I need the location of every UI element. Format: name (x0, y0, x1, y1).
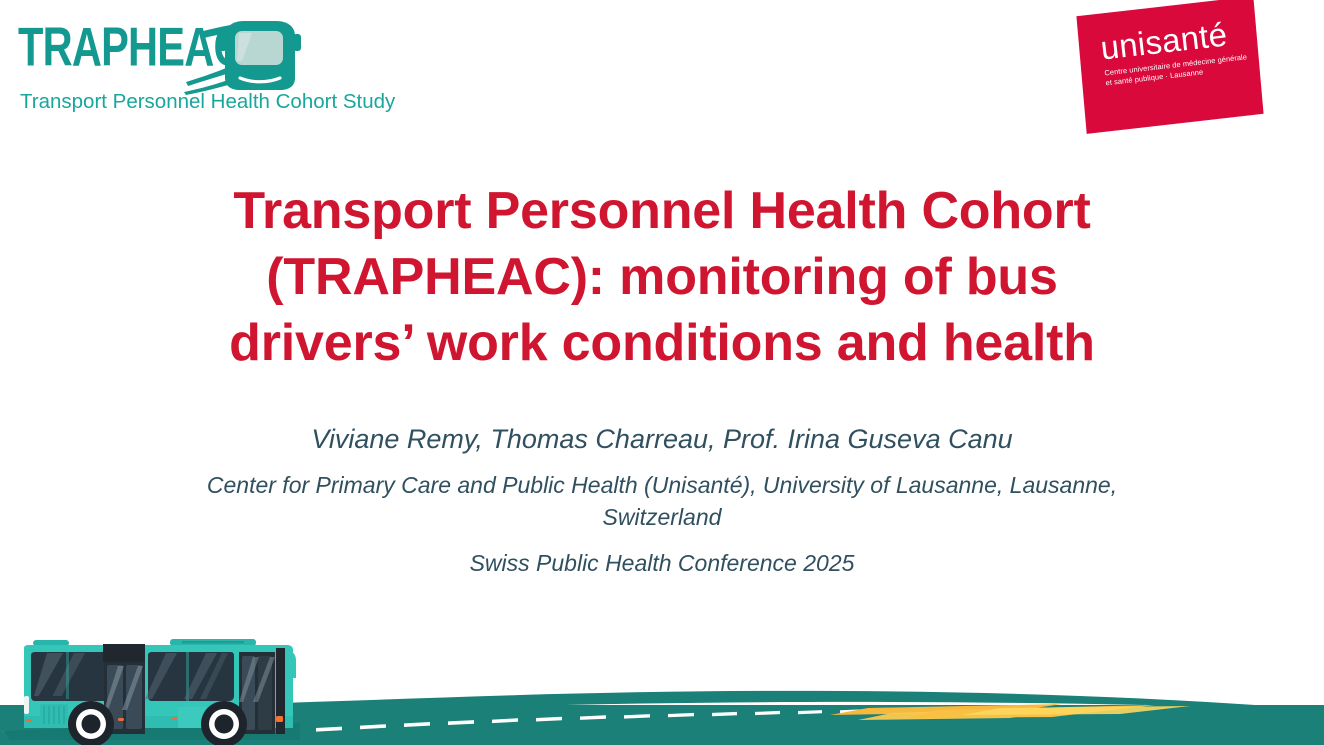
author-affiliation: Center for Primary Care and Public Healt… (132, 469, 1192, 533)
title-line-3: drivers’ work conditions and health (162, 310, 1162, 376)
unisante-text-group: unisanté Centre universitaire de médecin… (1075, 0, 1265, 134)
title-line-2: (TRAPHEAC): monitoring of bus (162, 244, 1162, 310)
slide-title: Transport Personnel Health Cohort (TRAPH… (162, 178, 1162, 376)
bus-front-wheel (68, 701, 114, 745)
trapheac-tagline: Transport Personnel Health Cohort Study (20, 90, 395, 114)
authors-block: Viviane Remy, Thomas Charreau, Prof. Iri… (132, 420, 1192, 579)
bus-front-icon (184, 16, 304, 98)
title-slide: TRAPHEAC Transport Personnel Health Coho… (0, 0, 1324, 745)
trapheac-logo: TRAPHEAC Transport Personnel Health Coho… (16, 14, 346, 124)
unisante-logo: unisanté Centre universitaire de médecin… (1081, 6, 1259, 124)
conference-name: Swiss Public Health Conference 2025 (132, 547, 1192, 579)
bus-rear-wheel (201, 701, 247, 745)
bus-on-road-illustration (0, 600, 1324, 745)
title-line-1: Transport Personnel Health Cohort (162, 178, 1162, 244)
author-names: Viviane Remy, Thomas Charreau, Prof. Iri… (132, 420, 1192, 458)
